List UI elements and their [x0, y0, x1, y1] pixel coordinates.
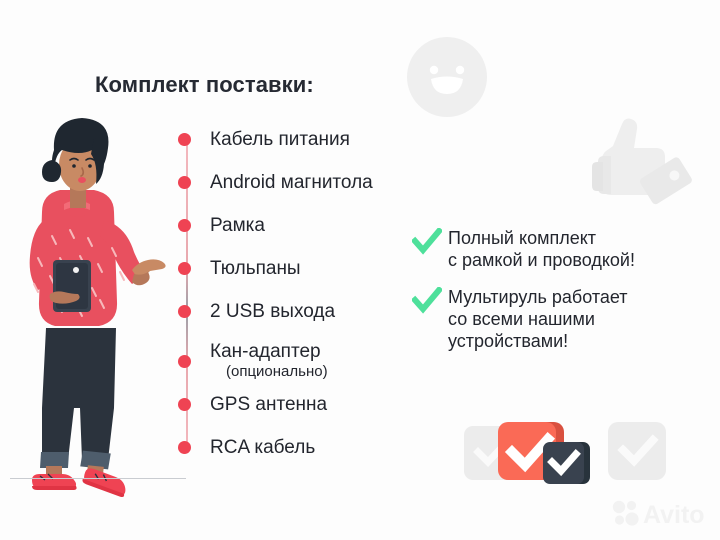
- bullet-dot-icon: [178, 133, 191, 146]
- list-item-label: Рамка: [210, 216, 265, 236]
- bullet-dot-icon: [178, 398, 191, 411]
- list-item-label: Кабель питания: [210, 130, 350, 150]
- checkbox-group-icon: [460, 412, 680, 492]
- list-item: Рамка: [178, 216, 265, 236]
- check-icon: [412, 228, 442, 258]
- feature-text: Полный комплект с рамкой и проводкой!: [448, 228, 635, 272]
- bullet-dot-icon: [178, 355, 191, 368]
- feature-highlight-list: Полный комплект с рамкой и проводкой! Му…: [412, 228, 635, 368]
- list-item: GPS антенна: [178, 395, 327, 415]
- list-item-label-group: Кан-адаптер (опционально): [210, 342, 328, 380]
- list-item: Android магнитола: [178, 173, 373, 193]
- thumbs-up-icon: [573, 112, 695, 220]
- list-item-sublabel: (опционально): [210, 363, 328, 380]
- page-title: Комплект поставки:: [95, 72, 314, 98]
- list-item-label: RCA кабель: [210, 438, 315, 458]
- woman-pointing-illustration: [8, 108, 178, 508]
- list-item-label: Кан-адаптер: [210, 341, 321, 362]
- list-item: Кан-адаптер (опционально): [178, 342, 328, 380]
- bullet-dot-icon: [178, 305, 191, 318]
- list-item-label: 2 USB выхода: [210, 302, 335, 322]
- bullet-dot-icon: [178, 262, 191, 275]
- promo-image-canvas: Комплект поставки: Кабель питания Androi…: [0, 0, 720, 540]
- bullet-dot-icon: [178, 176, 191, 189]
- delivery-contents-list: Кабель питания Android магнитола Рамка Т…: [178, 130, 438, 460]
- avito-watermark: Avito: [612, 498, 712, 530]
- check-icon: [412, 287, 442, 317]
- bullet-dot-icon: [178, 219, 191, 232]
- feature-row: Мультируль работает со всеми нашими устр…: [412, 287, 635, 353]
- feature-row: Полный комплект с рамкой и проводкой!: [412, 228, 635, 272]
- smiley-face-icon: [403, 33, 491, 121]
- list-item-label: GPS антенна: [210, 395, 327, 415]
- list-item: RCA кабель: [178, 438, 315, 458]
- list-item: 2 USB выхода: [178, 302, 335, 322]
- feature-text: Мультируль работает со всеми нашими устр…: [448, 287, 628, 353]
- floor-line: [10, 478, 186, 479]
- list-item-label: Тюльпаны: [210, 259, 301, 279]
- list-item: Кабель питания: [178, 130, 350, 150]
- avito-wordmark: Avito: [643, 501, 705, 529]
- list-item: Тюльпаны: [178, 259, 301, 279]
- bullet-dot-icon: [178, 441, 191, 454]
- list-item-label: Android магнитола: [210, 173, 373, 193]
